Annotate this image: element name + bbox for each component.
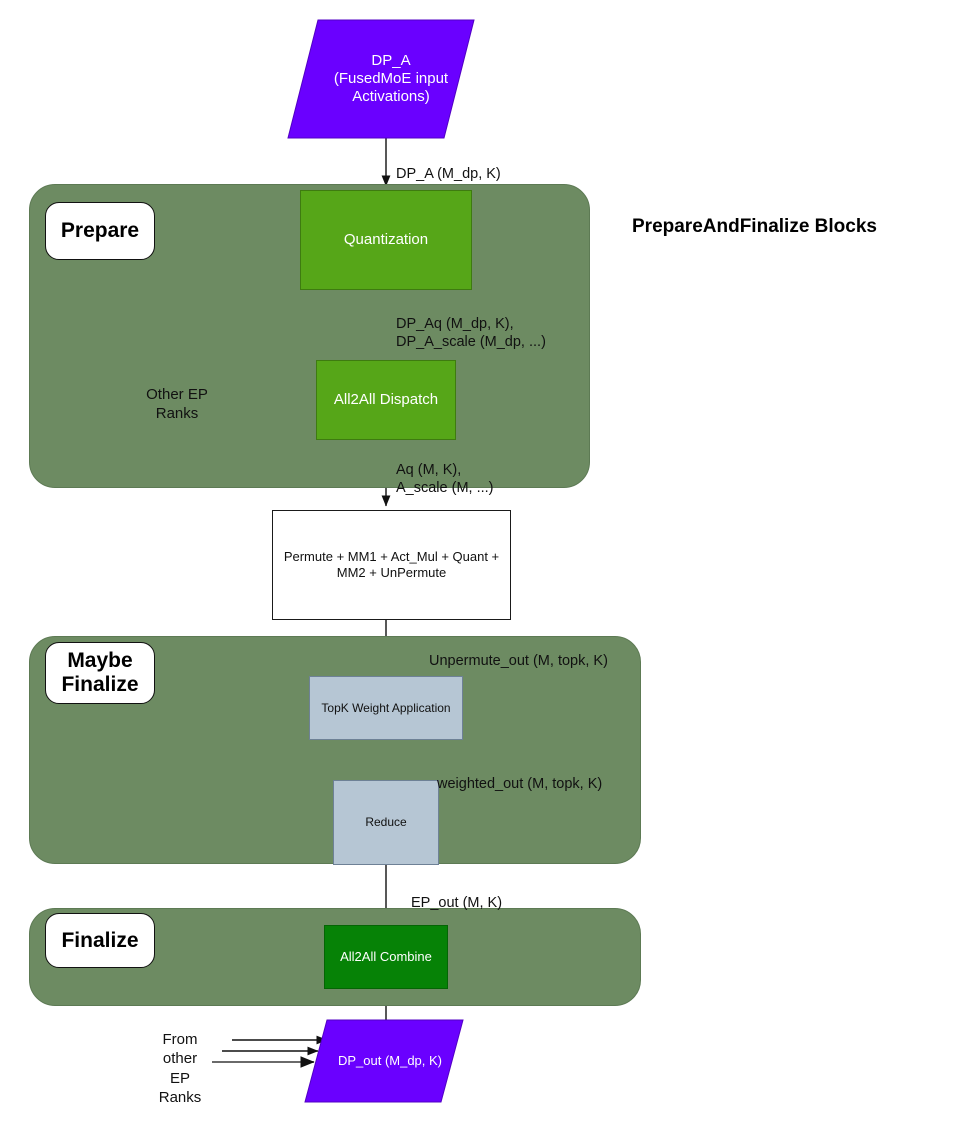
group-label-prepare: Prepare [45,202,155,260]
flowchart-canvas: Prepare Maybe Finalize Finalize DP_A (Fu… [0,0,971,1121]
node-expert-compute[interactable]: Permute + MM1 + Act_Mul + Quant + MM2 + … [272,510,511,620]
edge-label-compute-to-topk: Unpermute_out (M, topk, K) [429,634,608,670]
node-topk-weight-application-label: TopK Weight Application [321,701,450,715]
group-label-maybe-finalize: Maybe Finalize [45,642,155,704]
edge-label-quant-to-dispatch: DP_Aq (M_dp, K), DP_A_scale (M_dp, ...) [396,297,546,351]
node-expert-compute-label: Permute + MM1 + Act_Mul + Quant + MM2 + … [284,549,499,580]
node-quantization-label: Quantization [344,231,428,249]
edge-label-topk-to-reduce: weighted_out (M, topk, K) [437,757,602,793]
edge-label-reduce-to-combine: EP_out (M, K) [411,876,502,912]
diagram-title: PrepareAndFinalize Blocks [632,216,877,238]
node-output-data[interactable]: DP_out (M_dp, K) [305,1020,463,1102]
node-all2all-combine[interactable]: All2All Combine [324,925,448,989]
edge-label-input-to-quant: DP_A (M_dp, K) [396,147,501,183]
group-label-prepare-text: Prepare [61,219,139,243]
node-input-data[interactable]: DP_A (FusedMoE input Activations) [288,20,474,138]
node-topk-weight-application[interactable]: TopK Weight Application [309,676,463,740]
group-label-maybe-finalize-text: Maybe Finalize [46,649,154,696]
node-reduce[interactable]: Reduce [333,780,439,865]
node-reduce-label: Reduce [365,815,406,829]
node-all2all-dispatch[interactable]: All2All Dispatch [316,360,456,440]
side-label-from-other-ep-ranks: From other EP Ranks [152,1011,208,1107]
side-label-other-ep-ranks: Other EP Ranks [139,366,215,424]
node-all2all-combine-label: All2All Combine [340,949,432,965]
node-all2all-dispatch-label: All2All Dispatch [334,391,438,409]
group-label-finalize-text: Finalize [61,929,138,953]
edge-label-dispatch-to-compute: Aq (M, K), A_scale (M, ...) [396,443,494,497]
group-label-finalize: Finalize [45,913,155,968]
node-quantization[interactable]: Quantization [300,190,472,290]
